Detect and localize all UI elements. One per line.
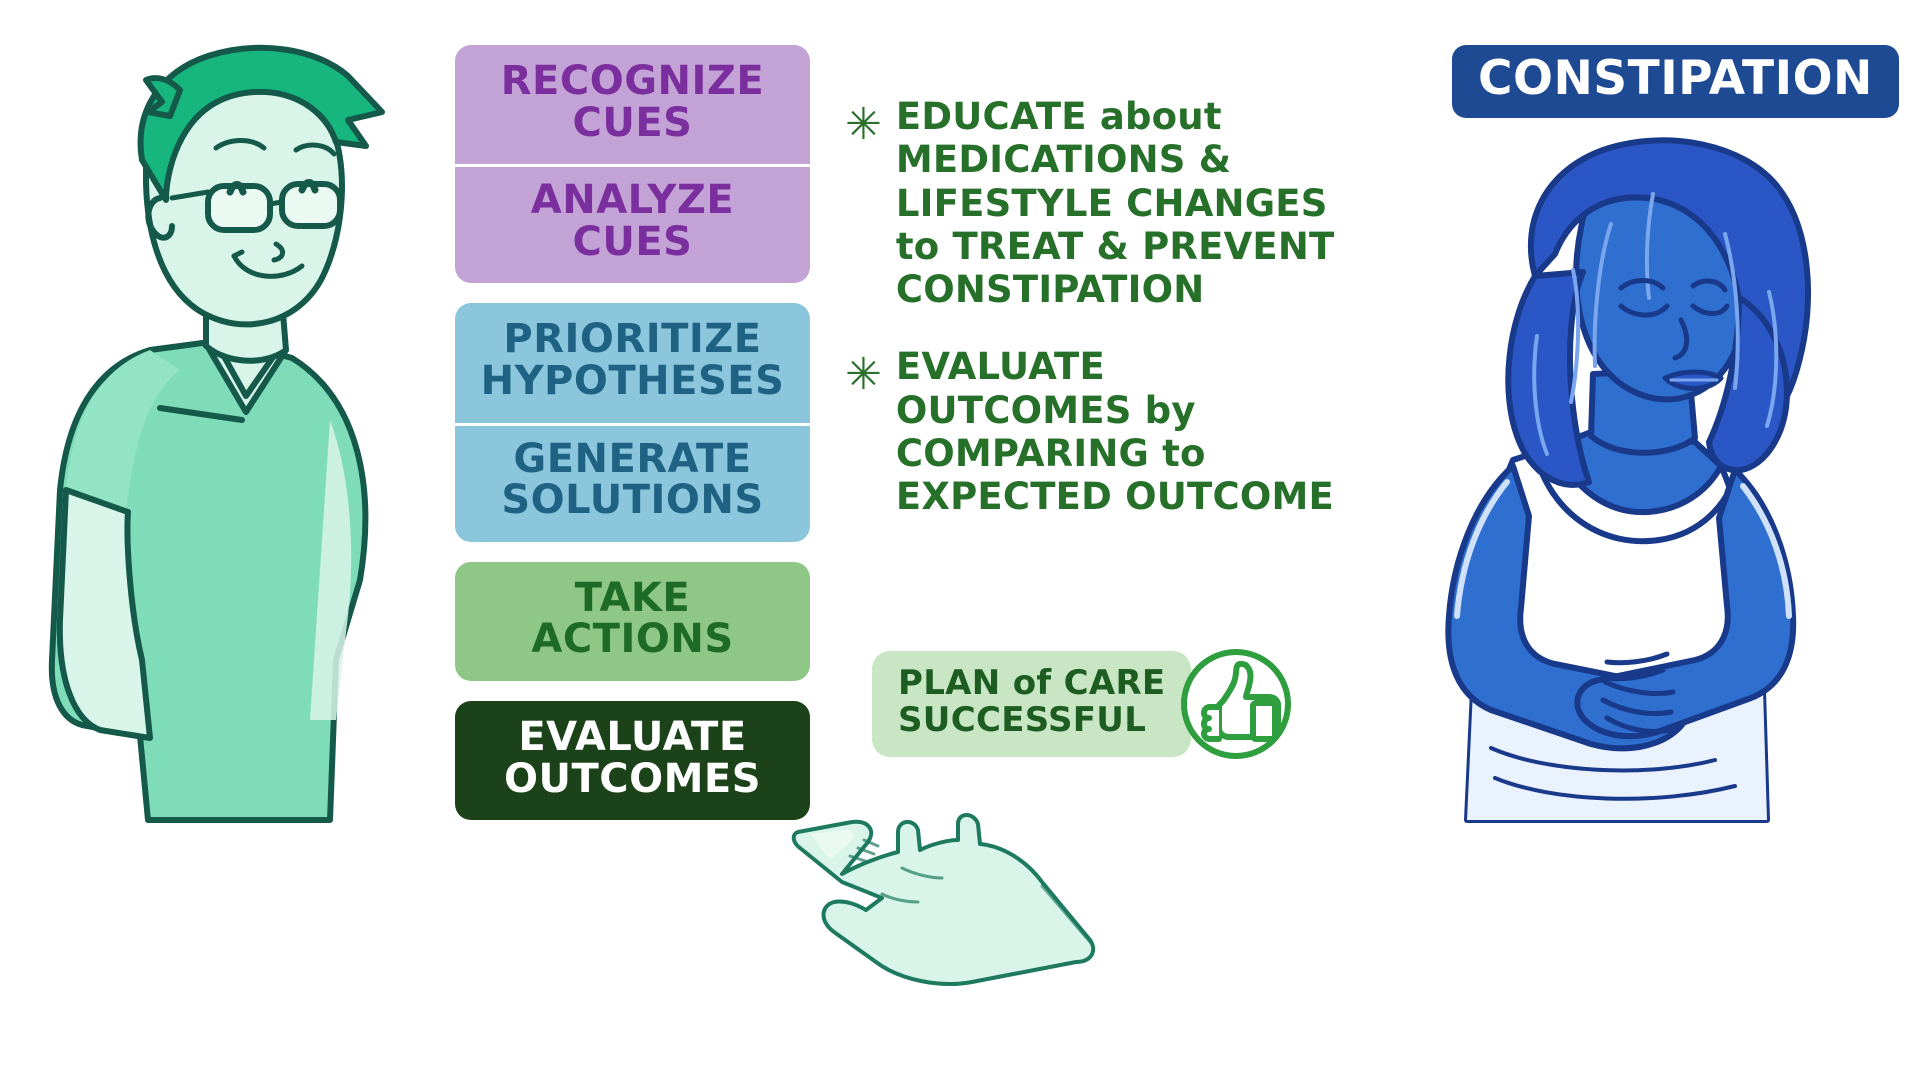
step-line-2: ACTIONS bbox=[465, 619, 800, 661]
thumbs-up-icon bbox=[1177, 645, 1295, 763]
educate-note-text: EDUCATE about MEDICATIONS & LIFESTYLE CH… bbox=[896, 95, 1335, 311]
bullet-asterisk-icon: ✳ bbox=[845, 353, 882, 397]
note-line: CONSTIPATION bbox=[896, 268, 1335, 311]
evaluate-note-text: EVALUATE OUTCOMES by COMPARING to EXPECT… bbox=[896, 345, 1334, 518]
step-prioritize-hypotheses[interactable]: PRIORITIZE HYPOTHESES bbox=[455, 303, 810, 422]
step-line-1: GENERATE bbox=[513, 436, 751, 482]
condition-title-banner: CONSTIPATION bbox=[1452, 45, 1899, 118]
plan-of-care-badge: PLAN of CARE SUCCESSFUL bbox=[872, 651, 1191, 758]
pointing-hand bbox=[790, 790, 1110, 1040]
step-line-1: RECOGNIZE bbox=[501, 58, 765, 104]
step-line-2: CUES bbox=[465, 222, 800, 264]
step-line-1: EVALUATE bbox=[518, 714, 746, 760]
evaluate-outcomes-group: EVALUATE OUTCOMES bbox=[455, 701, 810, 820]
step-evaluate-outcomes[interactable]: EVALUATE OUTCOMES bbox=[455, 701, 810, 820]
note-line: COMPARING to bbox=[896, 432, 1334, 475]
evaluate-note: ✳ EVALUATE OUTCOMES by COMPARING to EXPE… bbox=[845, 345, 1415, 518]
nurse-illustration bbox=[30, 20, 410, 830]
step-line-1: PRIORITIZE bbox=[503, 316, 761, 362]
patient-illustration bbox=[1395, 130, 1855, 860]
step-line-1: ANALYZE bbox=[531, 177, 734, 223]
take-actions-group: TAKE ACTIONS bbox=[455, 562, 810, 681]
note-line: EVALUATE bbox=[896, 345, 1334, 388]
step-line-2: HYPOTHESES bbox=[465, 361, 800, 403]
note-line: LIFESTYLE CHANGES bbox=[896, 182, 1335, 225]
note-line: to TREAT & PREVENT bbox=[896, 225, 1335, 268]
clinical-judgment-steps: RECOGNIZE CUES ANALYZE CUES PRIORITIZE H… bbox=[455, 45, 810, 820]
note-line: EXPECTED OUTCOME bbox=[896, 475, 1334, 518]
step-line-2: SOLUTIONS bbox=[465, 480, 800, 522]
step-take-actions[interactable]: TAKE ACTIONS bbox=[455, 562, 810, 681]
note-line: OUTCOMES by bbox=[896, 389, 1334, 432]
step-line-2: OUTCOMES bbox=[465, 759, 800, 801]
badge-line-1: PLAN of CARE bbox=[898, 665, 1165, 702]
note-line: MEDICATIONS & bbox=[896, 138, 1335, 181]
educate-note: ✳ EDUCATE about MEDICATIONS & LIFESTYLE … bbox=[845, 95, 1415, 311]
badge-line-2: SUCCESSFUL bbox=[898, 702, 1165, 739]
plan-of-care-status: PLAN of CARE SUCCESSFUL bbox=[872, 645, 1295, 763]
step-generate-solutions[interactable]: GENERATE SOLUTIONS bbox=[455, 423, 810, 542]
note-line: EDUCATE about bbox=[896, 95, 1335, 138]
step-line-2: CUES bbox=[465, 103, 800, 145]
step-line-1: TAKE bbox=[575, 575, 690, 621]
recognize-analyze-group: RECOGNIZE CUES ANALYZE CUES bbox=[455, 45, 810, 283]
bullet-asterisk-icon: ✳ bbox=[845, 103, 882, 147]
condition-title-text: CONSTIPATION bbox=[1478, 55, 1873, 102]
step-recognize-cues[interactable]: RECOGNIZE CUES bbox=[455, 45, 810, 164]
step-analyze-cues[interactable]: ANALYZE CUES bbox=[455, 164, 810, 283]
illustration-canvas: RECOGNIZE CUES ANALYZE CUES PRIORITIZE H… bbox=[0, 0, 1920, 1080]
teaching-notes: ✳ EDUCATE about MEDICATIONS & LIFESTYLE … bbox=[845, 95, 1415, 553]
hypotheses-solutions-group: PRIORITIZE HYPOTHESES GENERATE SOLUTIONS bbox=[455, 303, 810, 541]
